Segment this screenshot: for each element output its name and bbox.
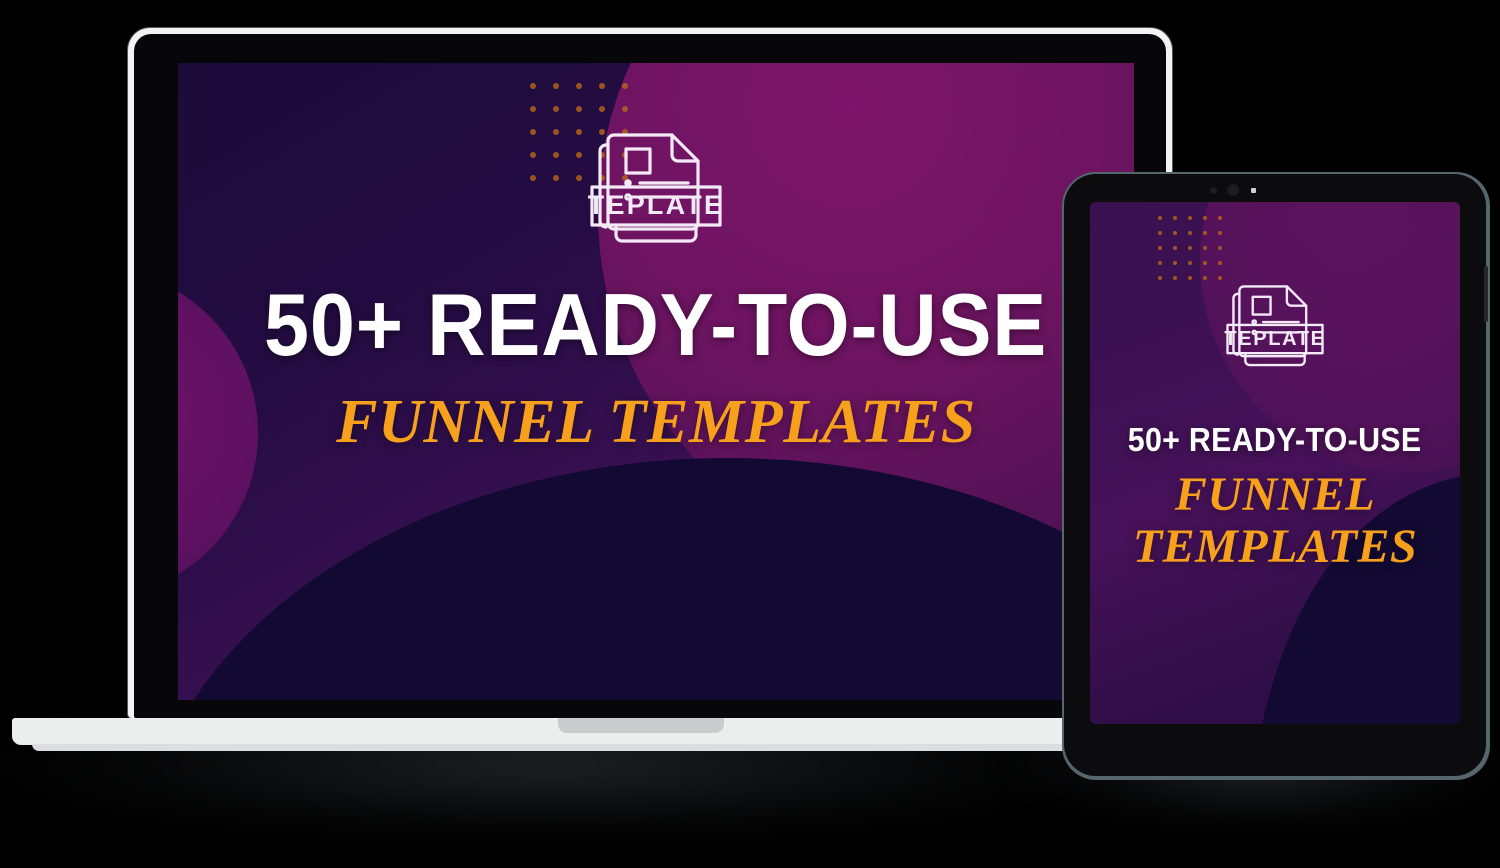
tablet-subhead-line-2: TEMPLATES [1133, 522, 1417, 572]
tablet-headline: 50+ READY-TO-USE [1128, 423, 1422, 456]
laptop-screen: TEPLATE 50+ READY-TO-USE FUNNEL TEMPLATE… [178, 63, 1134, 700]
laptop-headline: 50+ READY-TO-USE [264, 281, 1047, 369]
tablet-screen-artwork: TEPLATE 50+ READY-TO-USE FUNNEL TEMPLATE… [1090, 202, 1460, 724]
laptop-subhead: FUNNEL TEMPLATES [336, 391, 976, 453]
laptop-screen-content: TEPLATE 50+ READY-TO-USE FUNNEL TEMPLATE… [178, 63, 1134, 700]
indicator-light-icon [1251, 188, 1256, 193]
badge-banner-text: TEPLATE [1224, 328, 1325, 350]
laptop-screen-artwork: TEPLATE 50+ READY-TO-USE FUNNEL TEMPLATE… [178, 63, 1134, 700]
proximity-sensor-icon [1210, 187, 1217, 194]
tablet-subhead-line-1: FUNNEL [1175, 470, 1375, 520]
tablet-side-button[interactable] [1484, 266, 1488, 322]
tablet-screen: TEPLATE 50+ READY-TO-USE FUNNEL TEMPLATE… [1090, 202, 1460, 724]
front-camera-icon [1227, 184, 1239, 196]
tablet-device: TEPLATE 50+ READY-TO-USE FUNNEL TEMPLATE… [1062, 172, 1490, 780]
template-document-badge-icon: TEPLATE [1223, 276, 1327, 371]
tablet-screen-content: TEPLATE 50+ READY-TO-USE FUNNEL TEMPLATE… [1090, 202, 1460, 724]
tablet-frame: TEPLATE 50+ READY-TO-USE FUNNEL TEMPLATE… [1064, 174, 1486, 776]
device-mockup-scene: TEPLATE 50+ READY-TO-USE FUNNEL TEMPLATE… [0, 0, 1500, 868]
template-document-badge-icon: TEPLATE [586, 121, 726, 249]
laptop-base-notch [558, 718, 724, 733]
laptop-bezel: TEPLATE 50+ READY-TO-USE FUNNEL TEMPLATE… [134, 34, 1166, 718]
laptop-frame: TEPLATE 50+ READY-TO-USE FUNNEL TEMPLATE… [128, 28, 1172, 718]
tablet-outer-edge: TEPLATE 50+ READY-TO-USE FUNNEL TEMPLATE… [1062, 172, 1490, 780]
badge-banner-text: TEPLATE [588, 190, 724, 220]
laptop-device: TEPLATE 50+ READY-TO-USE FUNNEL TEMPLATE… [128, 28, 1172, 718]
